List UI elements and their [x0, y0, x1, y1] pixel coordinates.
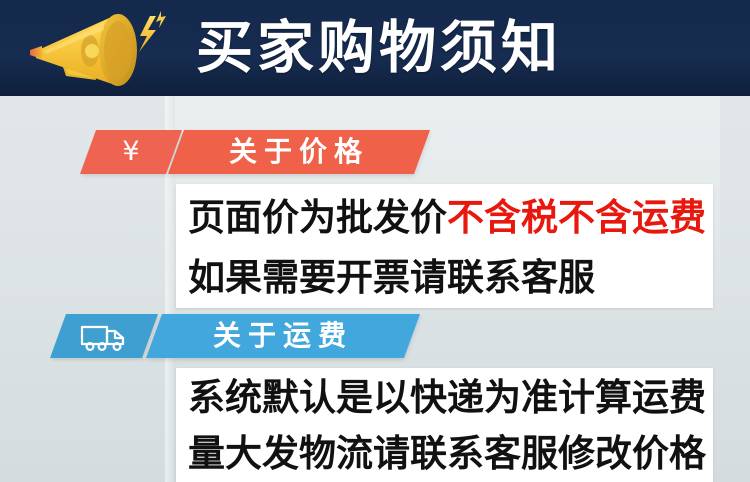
- shipping-line-2: 量大发物流请联系客服修改价格: [176, 426, 713, 482]
- shipping-line-2-normal: 量大发物流请联系客服修改价格: [188, 432, 706, 475]
- section-banner-price: ¥ 关于价格: [84, 130, 424, 174]
- yen-icon: ¥: [88, 130, 174, 174]
- yen-icon-tab: ¥: [80, 130, 182, 174]
- megaphone-icon: [22, 6, 167, 90]
- truck-icon-tab: [50, 314, 158, 358]
- price-line-2-normal: 如果需要开票请联系客服: [188, 256, 595, 299]
- lightning-spark-icon: [139, 16, 156, 52]
- price-line-1-emphasis: 不含税不含运费: [447, 196, 706, 239]
- section-banner-price-bar: 关于价格: [168, 130, 430, 174]
- price-line-1-normal: 页面价为批发价: [188, 196, 447, 239]
- price-line-2: 如果需要开票请联系客服: [176, 248, 713, 308]
- section-title-shipping: 关于运费: [154, 314, 412, 358]
- price-line-1: 页面价为批发价不含税不含运费: [176, 184, 713, 248]
- truck-icon: [58, 314, 150, 358]
- section-banner-shipping: 关于运费: [54, 314, 424, 358]
- page-title: 买家购物须知: [196, 8, 562, 88]
- shipping-line-1: 系统默认是以快递为准计算运费: [176, 368, 713, 426]
- section-banner-shipping-bar: 关于运费: [146, 314, 420, 358]
- shipping-line-1-normal: 系统默认是以快递为准计算运费: [188, 376, 706, 419]
- promo-banner-page: 买家购物须知 ¥ 关于价格 页面价为批发价不含税不含运费 如果需要开票请联系客服: [0, 0, 750, 482]
- price-text-panel: 页面价为批发价不含税不含运费 如果需要开票请联系客服: [176, 184, 713, 308]
- section-title-price: 关于价格: [176, 130, 422, 174]
- shipping-text-panel: 系统默认是以快递为准计算运费 量大发物流请联系客服修改价格: [176, 368, 713, 482]
- page-header: 买家购物须知: [0, 0, 750, 96]
